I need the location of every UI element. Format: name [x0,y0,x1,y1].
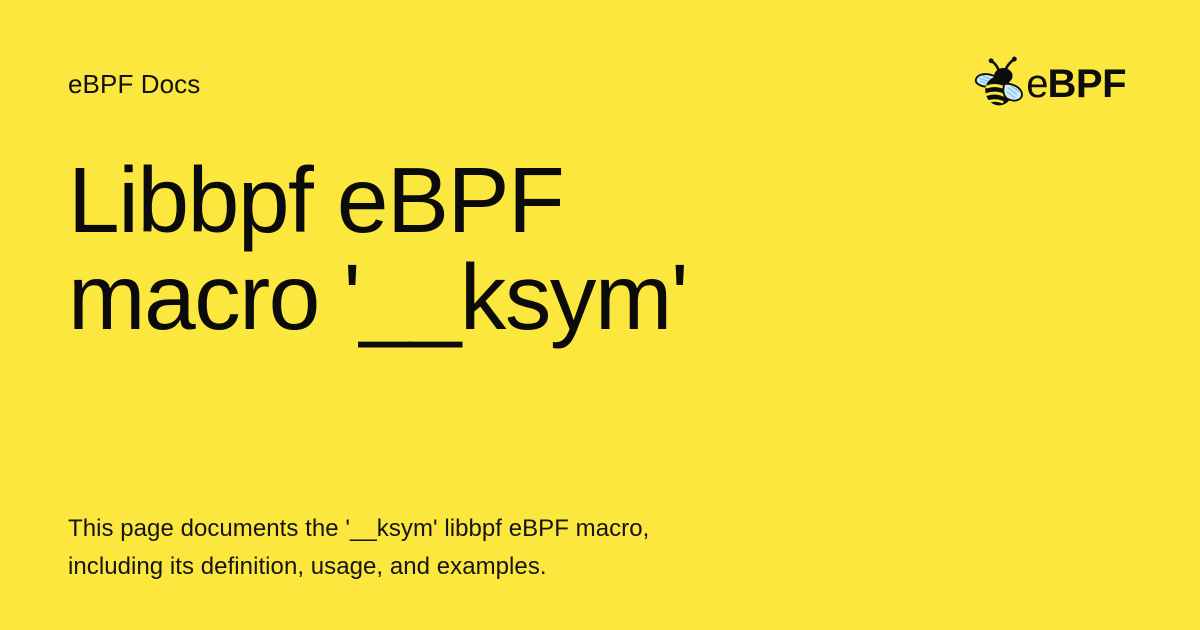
brand-wordmark-prefix: e [1026,62,1047,106]
card-header: eBPF Docs [0,0,1200,150]
brand-logo[interactable]: eBPF [972,55,1132,113]
page-description-line-2: including its definition, usage, and exa… [68,548,1088,586]
page-description: This page documents the '__ksym' libbpf … [68,510,1088,586]
page-title: Libbpf eBPF macro '__ksym' [68,152,1088,346]
brand-wordmark-suffix: BPF [1048,62,1127,106]
brand-wordmark: eBPF [1026,64,1126,104]
page-title-line-1: Libbpf eBPF [68,152,1088,249]
ebpf-bee-logo-icon [972,55,1030,113]
page-title-line-2: macro '__ksym' [68,249,1088,346]
site-label: eBPF Docs [68,68,200,100]
og-card: eBPF Docs [0,0,1200,630]
page-description-line-1: This page documents the '__ksym' libbpf … [68,510,1088,548]
